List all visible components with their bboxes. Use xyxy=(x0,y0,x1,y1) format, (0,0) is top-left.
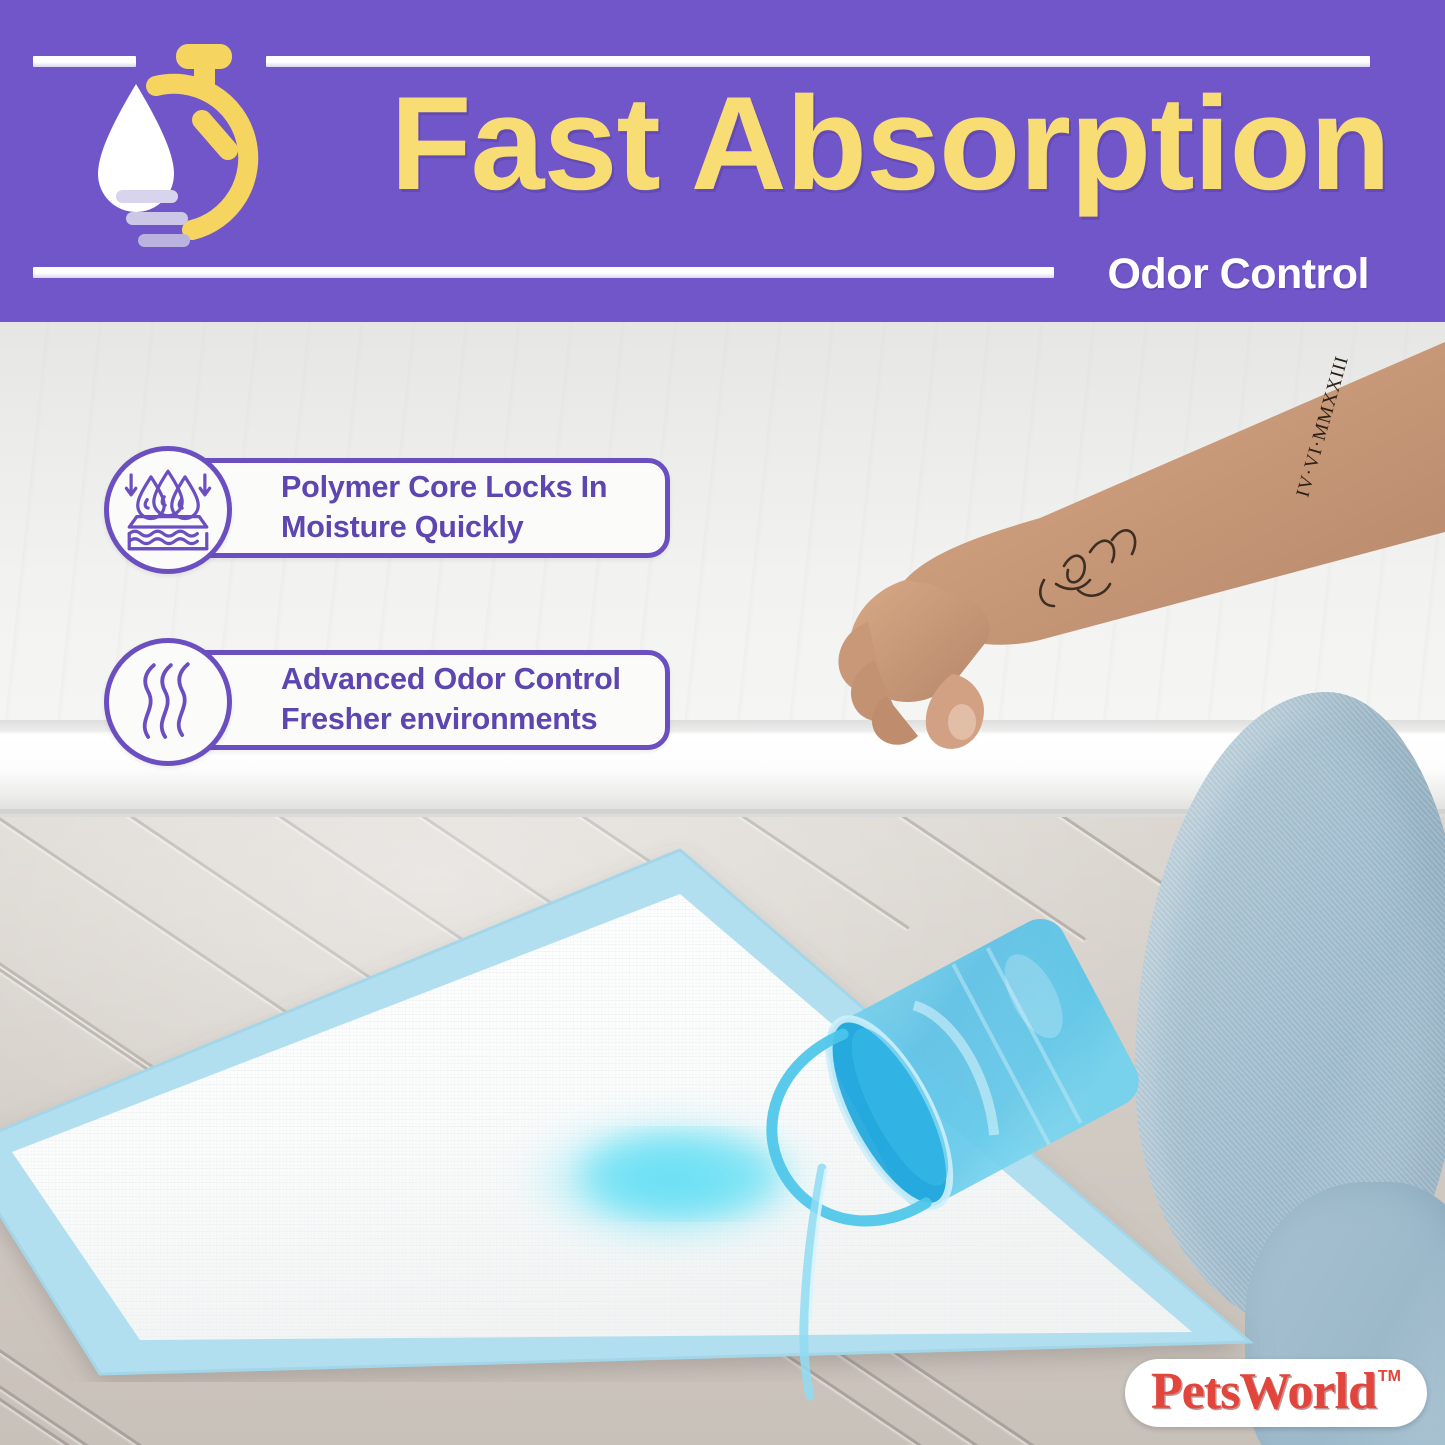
feature-line-2: Moisture Quickly xyxy=(281,508,607,548)
page-title: Fast Absorption xyxy=(360,78,1390,211)
product-marketing-banner: Fast Absorption Odor Control xyxy=(0,0,1445,1445)
absorbing-droplets-icon xyxy=(104,446,232,574)
feature-text: Advanced Odor Control Fresher environmen… xyxy=(281,660,621,739)
feature-pill: Advanced Odor Control Fresher environmen… xyxy=(168,650,670,750)
header-divider-right-segment xyxy=(266,56,1370,67)
feature-line-1: Advanced Odor Control xyxy=(281,660,621,700)
odor-waves-icon xyxy=(104,638,232,766)
trademark-symbol: TM xyxy=(1378,1368,1401,1386)
header-band: Fast Absorption Odor Control xyxy=(0,0,1445,322)
brand-logo: PetsWorld TM xyxy=(1125,1359,1427,1427)
stopwatch-droplet-icon xyxy=(88,34,338,284)
feature-line-2: Fresher environments xyxy=(281,700,621,740)
pet-training-pad xyxy=(0,822,1260,1382)
page-subtitle: Odor Control xyxy=(1107,250,1369,299)
feature-pill: Polymer Core Locks In Moisture Quickly xyxy=(168,458,670,558)
brand-name: PetsWorld xyxy=(1151,1366,1376,1418)
feature-line-1: Polymer Core Locks In xyxy=(281,468,607,508)
feature-text: Polymer Core Locks In Moisture Quickly xyxy=(281,468,607,547)
